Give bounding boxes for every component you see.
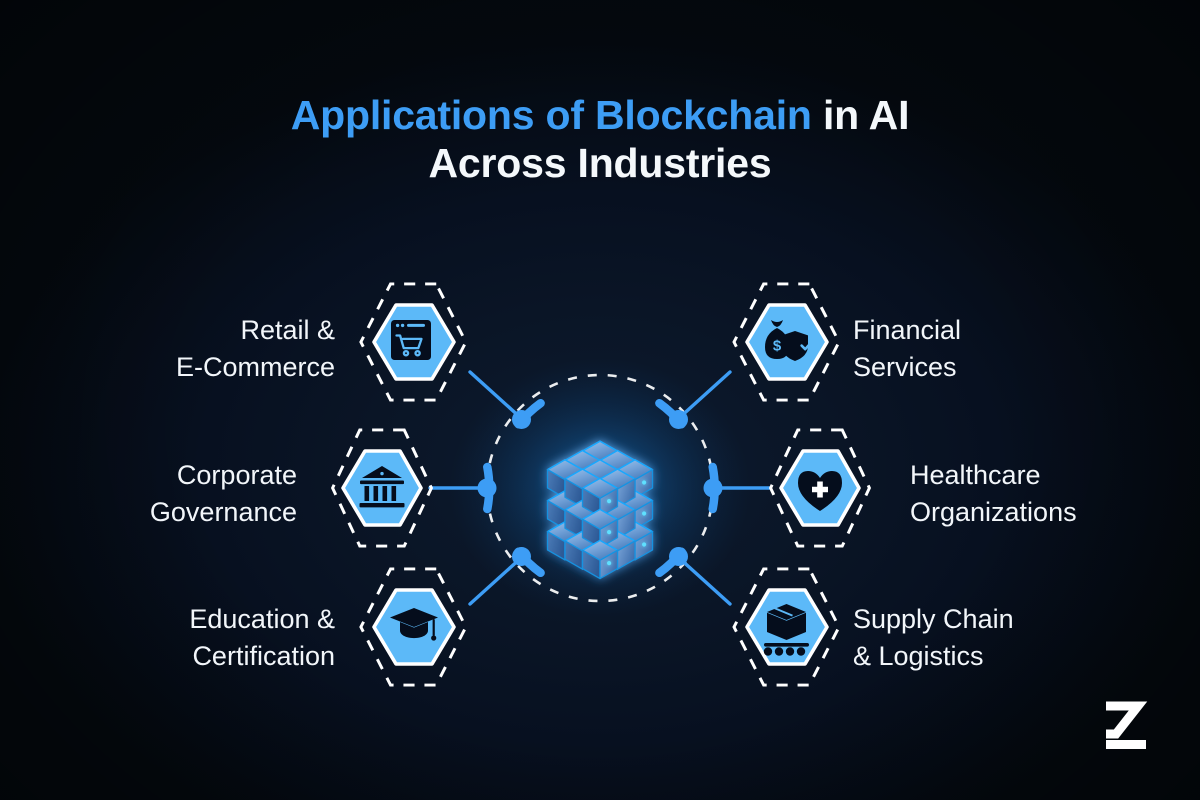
node-corporate-governance[interactable] [333, 430, 432, 546]
label-corporate-governance: Corporate Governance [150, 457, 297, 532]
label-supply-line-2: & Logistics [853, 638, 1014, 675]
title-line-1: Applications of Blockchain in AI [0, 92, 1200, 140]
logo-underbar [1106, 740, 1146, 749]
label-supply-chain-logistics: Supply Chain & Logistics [853, 601, 1014, 676]
blockchain-cube [548, 441, 653, 578]
node-dot-healthcare [704, 479, 723, 498]
label-education-line-2: Certification [189, 638, 335, 675]
node-dot-education [512, 547, 531, 566]
page-title: Applications of Blockchain in AI Across … [0, 92, 1200, 187]
label-financial-line-1: Financial [853, 312, 961, 349]
label-financial-services: Financial Services [853, 312, 961, 387]
node-dot-financial [669, 410, 688, 429]
label-retail-line-1: Retail & [176, 312, 335, 349]
label-governance-line-2: Governance [150, 494, 297, 531]
logo-chevron-icon [1106, 706, 1138, 734]
title-line-2: Across Industries [0, 140, 1200, 188]
node-education-certification[interactable] [361, 569, 466, 685]
node-healthcare-organizations[interactable] [771, 430, 870, 546]
node-dot-supply [669, 547, 688, 566]
label-healthcare-organizations: Healthcare Organizations [910, 457, 1077, 532]
cube-connector-dot [642, 542, 646, 546]
cube-connector-dot [607, 499, 611, 503]
node-dot-retail [512, 410, 531, 429]
title-plain-text: in AI [812, 92, 910, 138]
label-supply-line-1: Supply Chain [853, 601, 1014, 638]
label-healthcare-line-2: Organizations [910, 494, 1077, 531]
hex-shape-governance [343, 451, 421, 525]
label-retail-line-2: E-Commerce [176, 349, 335, 386]
cube-connector-dot [642, 511, 646, 515]
node-retail-ecommerce[interactable] [361, 284, 466, 400]
node-supply-chain-logistics[interactable] [734, 569, 839, 685]
label-retail-ecommerce: Retail & E-Commerce [176, 312, 335, 387]
brand-logo-mark[interactable] [1094, 694, 1158, 758]
svg-text:$: $ [773, 338, 782, 355]
title-accent-text: Applications of Blockchain [291, 92, 812, 138]
node-financial-services[interactable]: $ [734, 284, 839, 400]
label-education-line-1: Education & [189, 601, 335, 638]
cube-connector-dot [642, 480, 646, 484]
cube-connector-dot [607, 561, 611, 565]
label-healthcare-line-1: Healthcare [910, 457, 1077, 494]
node-dot-governance [478, 479, 497, 498]
label-education-certification: Education & Certification [189, 601, 335, 676]
label-governance-line-1: Corporate [150, 457, 297, 494]
infographic-canvas: Applications of Blockchain in AI Across … [0, 0, 1200, 800]
storefront-cart-icon [391, 320, 431, 360]
cube-connector-dot [607, 530, 611, 534]
label-financial-line-2: Services [853, 349, 961, 386]
